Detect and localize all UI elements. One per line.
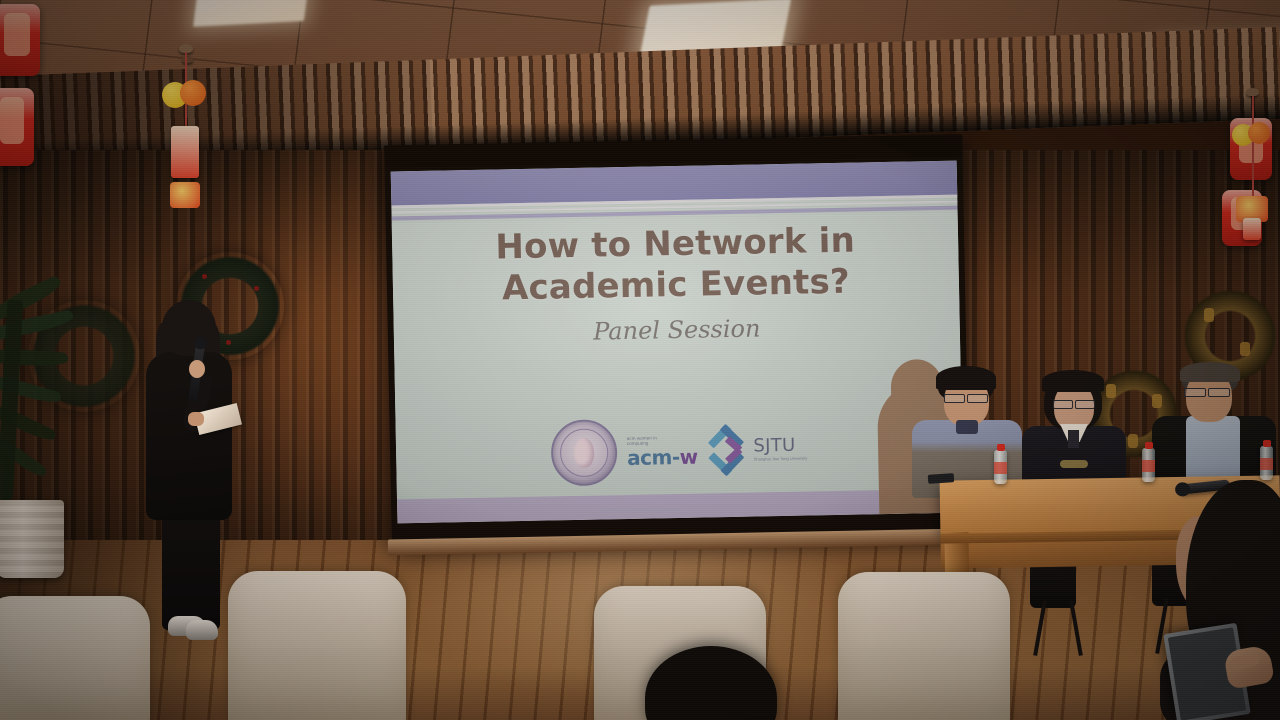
- ornament-ball-orange: [1248, 122, 1270, 144]
- mobile-phone: [928, 473, 955, 484]
- audience-chair[interactable]: [838, 572, 1010, 720]
- glasses-icon: [967, 394, 988, 403]
- hand: [188, 412, 204, 426]
- acmw-prefix: acm-: [627, 444, 680, 469]
- sjtu-wordmark: SJTU: [753, 437, 807, 456]
- sjtu-logo: SJTU Shanghai Jiao Tong University: [753, 437, 807, 462]
- glasses-icon: [1184, 388, 1206, 397]
- water-bottle: [994, 450, 1007, 484]
- acmw-wordmark: acm-w: [627, 446, 698, 467]
- hair: [1042, 370, 1104, 392]
- glasses-icon: [1053, 400, 1073, 409]
- sjtu-diamond-icon: [703, 429, 746, 472]
- coat-clasp: [1060, 460, 1088, 468]
- sjtu-subtitle: Shanghai Jiao Tong University: [754, 457, 808, 462]
- standing-moderator-with-microphone: [140, 300, 236, 640]
- plant-pot: [0, 500, 64, 578]
- glasses-icon: [1075, 400, 1095, 409]
- wreath-gold-ornament: [1240, 342, 1250, 356]
- hair: [1180, 362, 1240, 382]
- wreath-berry: [254, 286, 259, 291]
- hand: [189, 360, 205, 378]
- red-paper-lantern-decoration: [0, 4, 40, 76]
- tie: [1068, 430, 1079, 448]
- acmw-logo: acm women in computing acm-w: [627, 435, 698, 467]
- acmw-suffix: w: [679, 444, 697, 468]
- ornament-string: [1252, 142, 1254, 198]
- projection-screen: How to Network in Academic Events? Panel…: [384, 134, 970, 545]
- acm-w-seal-icon: acm-w-seal: [550, 419, 617, 486]
- hair: [162, 300, 216, 356]
- water-bottle: [1142, 448, 1155, 482]
- hair: [936, 366, 996, 390]
- wreath-berry: [202, 274, 207, 279]
- red-paper-lantern-decoration: [0, 88, 34, 166]
- sprinkler-head-icon: [182, 56, 193, 63]
- audience-chair[interactable]: [0, 596, 150, 720]
- photo-scene: How to Network in Academic Events? Panel…: [0, 0, 1280, 720]
- wreath-gold-ornament: [1128, 434, 1138, 448]
- seal-ring-text: acm-w-seal: [552, 421, 615, 484]
- ornament-ceiling-mount: [1246, 88, 1259, 96]
- presentation-slide: How to Network in Academic Events? Panel…: [391, 161, 964, 524]
- glasses-icon: [944, 394, 965, 403]
- ornament-string: [1252, 96, 1254, 126]
- trousers: [162, 512, 220, 630]
- ornament-ball-orange: [180, 80, 206, 106]
- audience-chair[interactable]: [228, 571, 406, 720]
- jacket: [146, 352, 232, 520]
- glasses-icon: [1208, 388, 1230, 397]
- wreath-gold-ornament: [1204, 308, 1214, 322]
- slide-title: How to Network in Academic Events?: [392, 219, 959, 312]
- ornament-fu-character: [170, 182, 200, 208]
- shoe: [186, 620, 218, 640]
- audience-member-foreground-right-with-tablet: [1160, 470, 1280, 720]
- ornament-tassel-card: [171, 126, 199, 178]
- ornament-tassel-card: [1243, 218, 1261, 240]
- shirt-collar: [956, 420, 978, 434]
